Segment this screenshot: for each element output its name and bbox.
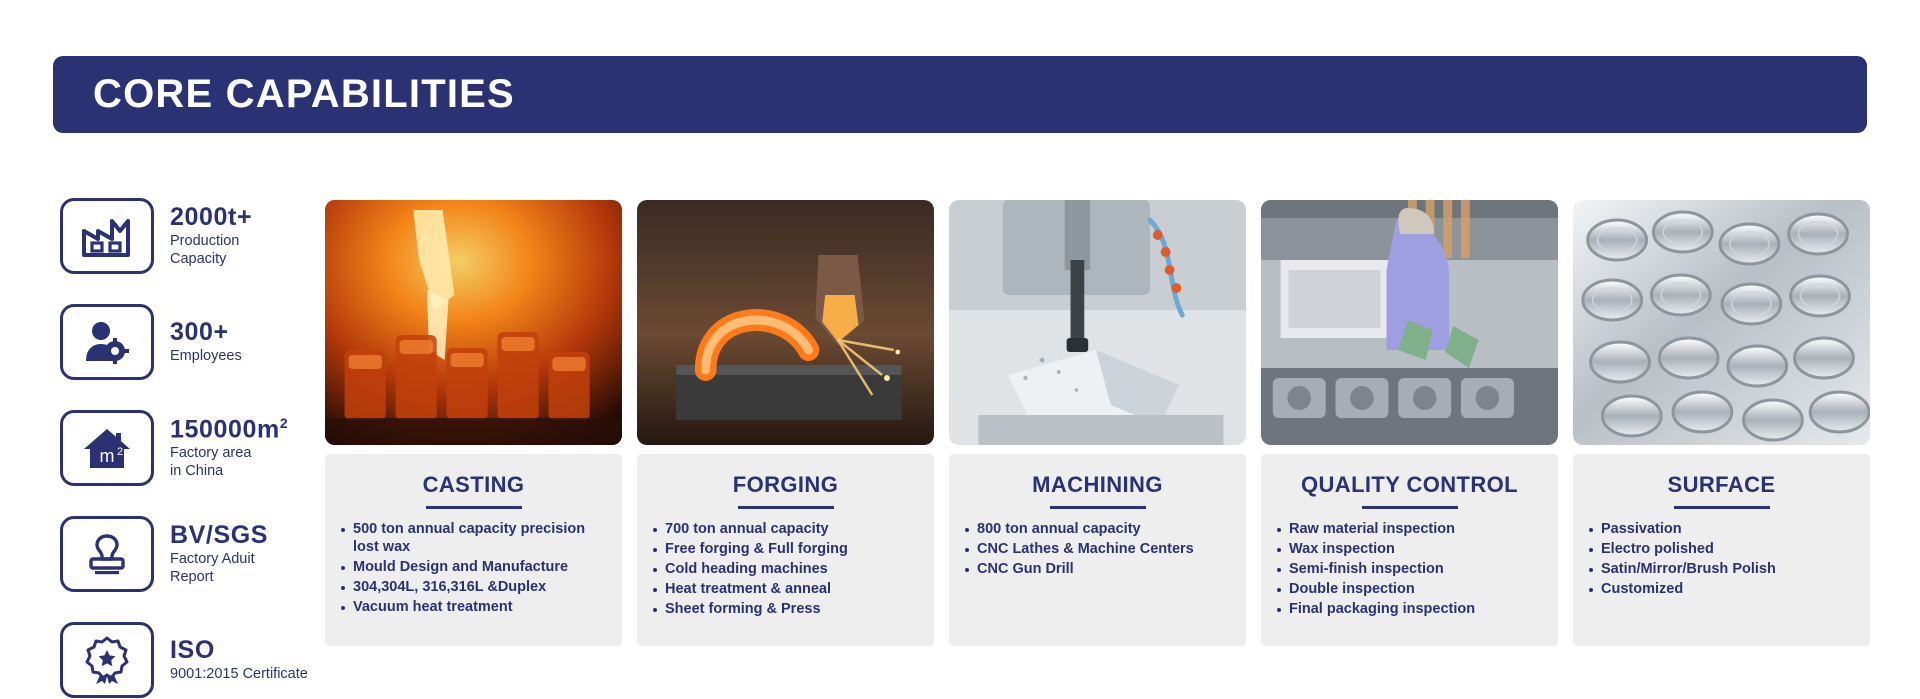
stat-value: 300+	[170, 319, 242, 346]
stat-item-factory-area: m 2 150000m2 Factory area in China	[60, 410, 322, 486]
card-title: FORGING	[651, 472, 920, 498]
list-item: Heat treatment & anneal	[651, 581, 920, 599]
list-item: Free forging & Full forging	[651, 541, 920, 559]
list-item: Satin/Mirror/Brush Polish	[1587, 561, 1856, 579]
list-item: Sheet forming & Press	[651, 601, 920, 619]
title-rule	[1674, 506, 1770, 509]
card-body: FORGING 700 ton annual capacity Free for…	[637, 454, 934, 646]
certificate-rosette-icon	[60, 622, 154, 698]
list-item: Final packaging inspection	[1275, 601, 1544, 619]
svg-text:m: m	[100, 446, 115, 466]
card-body: MACHINING 800 ton annual capacity CNC La…	[949, 454, 1246, 646]
capability-card-surface[interactable]: SURFACE Passivation Electro polished Sat…	[1573, 200, 1870, 646]
quality-inspection-worker-photo	[1261, 200, 1558, 445]
stat-item-employees: 300+ Employees	[60, 304, 322, 380]
capability-card-forging[interactable]: FORGING 700 ton annual capacity Free for…	[637, 200, 934, 646]
card-bullet-list: 700 ton annual capacity Free forging & F…	[651, 521, 920, 619]
capability-card-machining[interactable]: MACHINING 800 ton annual capacity CNC La…	[949, 200, 1246, 646]
stamp-icon	[60, 516, 154, 592]
list-item: Semi-finish inspection	[1275, 561, 1544, 579]
title-rule	[738, 506, 834, 509]
capability-cards: CASTING 500 ton annual capacity precisio…	[325, 200, 1870, 646]
stat-value-superscript: 2	[280, 415, 288, 431]
stat-value: 2000t+	[170, 204, 252, 231]
stat-text: ISO 9001:2015 Certificate	[170, 637, 308, 684]
stat-caption: Employees	[170, 348, 242, 366]
list-item: Passivation	[1587, 521, 1856, 539]
list-item: Double inspection	[1275, 581, 1544, 599]
stat-value: BV/SGS	[170, 522, 268, 549]
card-title: SURFACE	[1587, 472, 1856, 498]
title-rule	[1050, 506, 1146, 509]
svg-text:2: 2	[117, 446, 123, 458]
card-bullet-list: 800 ton annual capacity CNC Lathes & Mac…	[963, 521, 1232, 579]
card-title: QUALITY CONTROL	[1275, 472, 1544, 498]
factory-area-icon: m 2	[60, 410, 154, 486]
list-item: 800 ton annual capacity	[963, 521, 1232, 539]
card-bullet-list: 500 ton annual capacity precision lost w…	[339, 521, 608, 617]
list-item: Cold heading machines	[651, 561, 920, 579]
list-item: Mould Design and Manufacture	[339, 559, 608, 577]
list-item: 304,304L, 316,316L &Duplex	[339, 579, 608, 597]
page-title: CORE CAPABILITIES	[93, 72, 515, 117]
factory-icon	[60, 198, 154, 274]
employee-gear-icon	[60, 304, 154, 380]
list-item: CNC Lathes & Machine Centers	[963, 541, 1232, 559]
card-bullet-list: Raw material inspection Wax inspection S…	[1275, 521, 1544, 619]
stat-caption: Factory area in China	[170, 445, 288, 480]
cnc-machining-center-photo	[949, 200, 1246, 445]
title-rule	[426, 506, 522, 509]
card-bullet-list: Passivation Electro polished Satin/Mirro…	[1587, 521, 1856, 599]
list-item: Customized	[1587, 581, 1856, 599]
stat-item-bv-sgs: BV/SGS Factory Aduit Report	[60, 516, 322, 592]
stat-item-iso: ISO 9001:2015 Certificate	[60, 622, 322, 698]
title-rule	[1362, 506, 1458, 509]
polished-stainless-parts-photo	[1573, 200, 1870, 445]
capability-card-quality-control[interactable]: QUALITY CONTROL Raw material inspection …	[1261, 200, 1558, 646]
stat-item-production-capacity: 2000t+ Production Capacity	[60, 198, 322, 274]
list-item: Electro polished	[1587, 541, 1856, 559]
stat-caption: Production Capacity	[170, 233, 252, 268]
list-item: Vacuum heat treatment	[339, 599, 608, 617]
stat-text: 150000m2 Factory area in China	[170, 416, 288, 481]
list-item: CNC Gun Drill	[963, 561, 1232, 579]
core-capabilities-infographic: CORE CAPABILITIES 2000t+ Production Capa…	[0, 0, 1920, 699]
molten-metal-pouring-casting-photo	[325, 200, 622, 445]
capability-card-casting[interactable]: CASTING 500 ton annual capacity precisio…	[325, 200, 622, 646]
list-item: 700 ton annual capacity	[651, 521, 920, 539]
hot-forging-press-photo	[637, 200, 934, 445]
stat-text: 2000t+ Production Capacity	[170, 204, 252, 268]
stat-caption: 9001:2015 Certificate	[170, 666, 308, 684]
header-banner: CORE CAPABILITIES	[53, 56, 1867, 133]
stats-column: 2000t+ Production Capacity 300+ Employee…	[60, 198, 322, 698]
card-body: CASTING 500 ton annual capacity precisio…	[325, 454, 622, 646]
card-body: SURFACE Passivation Electro polished Sat…	[1573, 454, 1870, 646]
card-title: CASTING	[339, 472, 608, 498]
list-item: Wax inspection	[1275, 541, 1544, 559]
stat-caption: Factory Aduit Report	[170, 551, 268, 586]
card-body: QUALITY CONTROL Raw material inspection …	[1261, 454, 1558, 646]
card-title: MACHINING	[963, 472, 1232, 498]
list-item: 500 ton annual capacity precision lost w…	[339, 521, 608, 557]
stat-value: ISO	[170, 637, 308, 664]
stat-value: 150000m2	[170, 416, 288, 443]
stat-text: BV/SGS Factory Aduit Report	[170, 522, 268, 586]
stat-text: 300+ Employees	[170, 319, 242, 366]
list-item: Raw material inspection	[1275, 521, 1544, 539]
